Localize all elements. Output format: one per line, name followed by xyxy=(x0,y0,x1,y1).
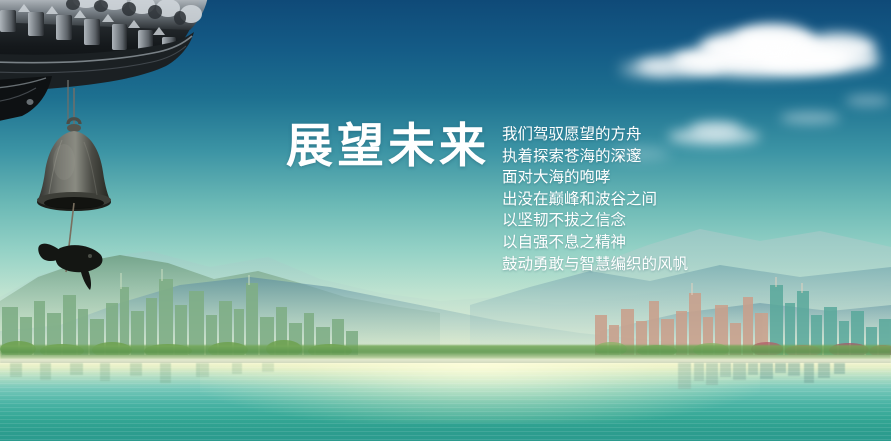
poem-line: 执着探索苍海的深邃 xyxy=(502,146,688,168)
poem-line: 鼓动勇敢与智慧编织的风帆 xyxy=(502,254,688,276)
lake-water xyxy=(0,363,891,441)
wind-bell xyxy=(18,88,128,303)
poem-line: 以自强不息之精神 xyxy=(502,232,688,254)
poem-line: 出没在巅峰和波谷之间 xyxy=(502,189,688,211)
future-outlook-banner: 展望未来 我们驾驭愿望的方舟 执着探索苍海的深邃 面对大海的咆哮 出没在巅峰和波… xyxy=(0,0,891,441)
poem-line: 以坚韧不拔之信念 xyxy=(502,210,688,232)
poem-line: 我们驾驭愿望的方舟 xyxy=(502,124,688,146)
poem-block: 我们驾驭愿望的方舟 执着探索苍海的深邃 面对大海的咆哮 出没在巅峰和波谷之间 以… xyxy=(502,124,688,275)
fish-pendant xyxy=(38,244,102,290)
poem-line: 面对大海的咆哮 xyxy=(502,167,688,189)
page-title: 展望未来 xyxy=(286,122,490,169)
